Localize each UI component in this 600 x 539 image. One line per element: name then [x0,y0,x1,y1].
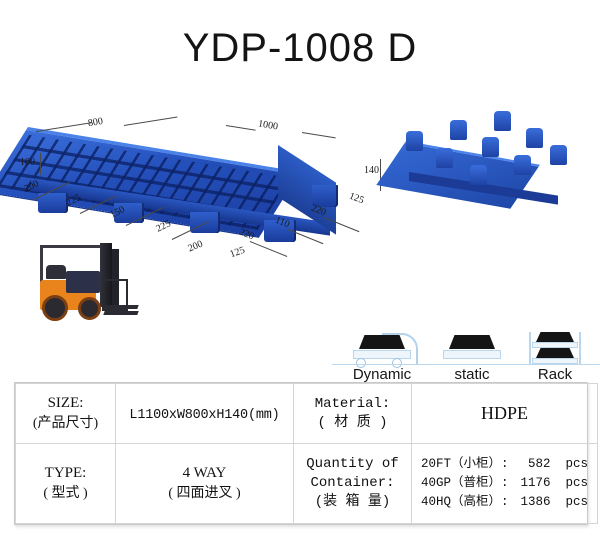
pallet-post [550,145,567,165]
material-key-en: Material: [295,395,410,414]
quantity-key-en1: Quantity of [295,455,410,474]
container-unit: pcs [566,495,589,509]
forklift-wheel [42,295,68,321]
container-qty: 582 [508,455,550,474]
rack-shelf-icon [532,342,578,348]
pallet-foot [38,193,68,213]
dynamic-load-icon [336,331,428,367]
table-row: SIZE: (产品尺寸) L1100xW800xH140(mm) Materia… [16,384,598,444]
load-label-line1: Dynamic [336,367,428,383]
load-label-line1: Rack [516,367,594,383]
load-label-line1: static [428,367,516,383]
pallet-underside-view [398,103,573,203]
material-key-cn: ( 材 质 ) [295,414,410,433]
dimension-bottom-125: 125 [229,245,247,260]
dimension-foot-height: 100 [20,157,35,168]
container-row: 40HQ（高柜）:1386 pcs [421,493,588,512]
load-block-icon [536,332,574,342]
type-key-cn: ( 型式 ) [17,484,114,504]
pallet-base-icon [443,350,501,359]
load-block-icon [449,335,495,349]
pallet-post [406,131,423,151]
specification-table: SIZE: (产品尺寸) L1100xW800xH140(mm) Materia… [14,382,588,525]
container-qty: 1386 [508,493,550,512]
leader-line [250,241,287,257]
container-row: 20FT（小柜）:582 pcs [421,455,588,474]
container-code: 20FT（小柜）: [421,457,509,471]
page-title: YDP-1008 D [0,26,600,71]
type-value-cn: ( 四面进叉 ) [117,484,292,504]
quantity-key-en2: Container: [295,474,410,493]
illustration-area: 800 1000 100 140 200 225 150 225 200 125… [0,95,600,355]
table-row: TYPE: ( 型式 ) 4 WAY ( 四面进叉 ) Quantity of … [16,444,598,524]
forklift-fork [103,311,138,315]
container-code: 40GP（普柜）: [421,476,509,490]
forklift-fork [103,305,138,309]
dimension-bottom-200: 200 [186,239,204,255]
type-key-en: TYPE: [17,463,114,485]
pallet-post [494,111,511,131]
cell-type-key: TYPE: ( 型式 ) [16,444,116,524]
cell-material-key: Material: ( 材 质 ) [294,384,412,444]
ground-line [512,364,600,365]
load-block-icon [536,348,574,358]
cell-quantity-value: 20FT（小柜）:582 pcs 40GP（普柜）:1176 pcs 40HQ（… [412,444,598,524]
cell-material-value: HDPE [412,384,598,444]
pallet-post [514,155,531,175]
pallet-post [526,128,543,148]
forklift-photo [26,235,138,333]
pallet-post [470,165,487,185]
size-key-en: SIZE: [17,393,114,415]
ground-line [332,364,428,365]
forklift-seat [46,265,66,279]
container-code: 40HQ（高柜）: [421,495,509,509]
leader-line [40,153,41,175]
dimension-total-height: 140 [364,165,379,176]
type-value-en: 4 WAY [117,463,292,485]
wheel-icon [356,358,366,368]
cell-size-value: L1100xW800xH140(mm) [116,384,294,444]
forklift-wheel [78,297,101,320]
material-value: HDPE [481,403,528,423]
rack-load-icon [516,331,594,367]
container-row: 40GP（普柜）:1176 pcs [421,474,588,493]
forklift-console [66,271,100,293]
container-qty: 1176 [508,474,550,493]
ground-line [424,364,520,365]
quantity-key-cn: (装 箱 量) [295,493,410,512]
container-unit: pcs [566,476,589,490]
wheel-icon [392,358,402,368]
container-unit: pcs [566,457,589,471]
size-value: L1100xW800xH140(mm) [129,408,279,423]
cell-type-value: 4 WAY ( 四面进叉 ) [116,444,294,524]
cell-size-key: SIZE: (产品尺寸) [16,384,116,444]
leader-line [380,159,381,191]
pallet-post [450,120,467,140]
static-load-icon [428,331,516,367]
size-key-cn: (产品尺寸) [17,414,114,434]
cell-quantity-key: Quantity of Container: (装 箱 量) [294,444,412,524]
pallet-post [482,137,499,157]
pallet-post [436,148,453,168]
